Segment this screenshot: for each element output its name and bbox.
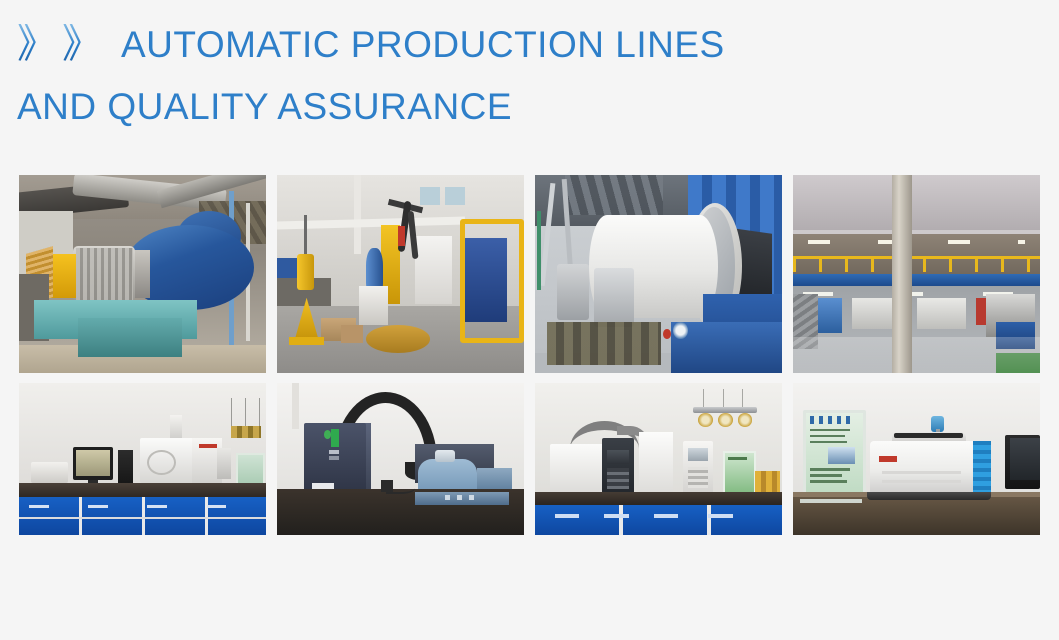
photo-gallery-grid <box>19 175 1040 535</box>
photo-chiller-and-analyzer[interactable] <box>277 383 524 535</box>
photo-extruder-blue-vessel-image <box>19 175 266 373</box>
photo-lab-bench-gcms-image <box>19 383 266 535</box>
page-root: 》 》 AUTOMATIC PRODUCTION LINES AND QUALI… <box>0 0 1059 640</box>
photo-two-level-plant-interior-image <box>793 175 1040 373</box>
photo-workshop-yellow-blue-equipment[interactable] <box>277 175 524 373</box>
chevron-markers: 》 》 <box>17 24 107 64</box>
photo-gc-system-gas-manifold[interactable] <box>535 383 782 535</box>
photo-ftir-spectrometer[interactable] <box>793 383 1040 535</box>
page-title-text-2: AND QUALITY ASSURANCE <box>17 88 512 125</box>
photo-gc-system-gas-manifold-image <box>535 383 782 535</box>
photo-ftir-spectrometer-image <box>793 383 1040 535</box>
photo-white-tank-blue-machine-image <box>535 175 782 373</box>
photo-white-tank-blue-machine[interactable] <box>535 175 782 373</box>
page-title-text-1: AUTOMATIC PRODUCTION LINES <box>121 26 725 63</box>
photo-chiller-and-analyzer-image <box>277 383 524 535</box>
photo-workshop-yellow-blue-equipment-image <box>277 175 524 373</box>
photo-extruder-blue-vessel[interactable] <box>19 175 266 373</box>
double-angle-right-icon-2: 》 <box>62 24 102 64</box>
double-angle-right-icon-1: 》 <box>17 24 57 64</box>
photo-two-level-plant-interior[interactable] <box>793 175 1040 373</box>
page-title: 》 》 AUTOMATIC PRODUCTION LINES AND QUALI… <box>17 24 1017 142</box>
page-title-line-1: 》 》 AUTOMATIC PRODUCTION LINES <box>17 24 1017 78</box>
photo-lab-bench-gcms[interactable] <box>19 383 266 535</box>
page-title-line-2: AND QUALITY ASSURANCE <box>17 88 1017 142</box>
